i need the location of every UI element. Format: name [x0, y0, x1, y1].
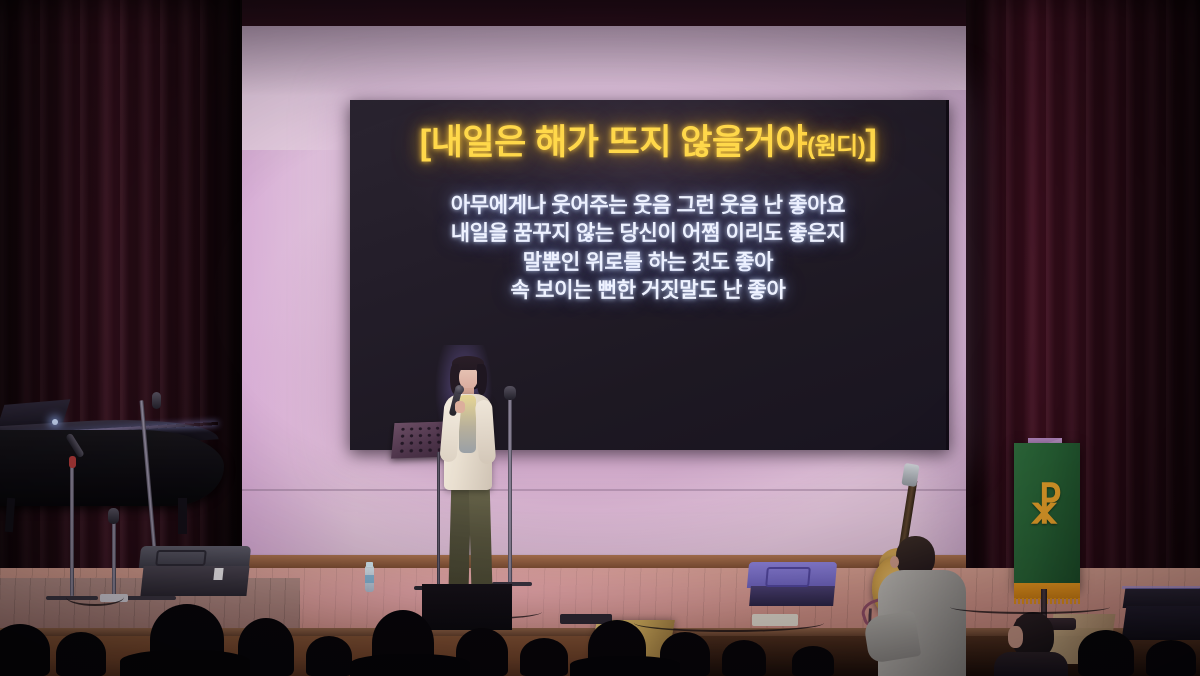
banner-fringe [1014, 583, 1080, 599]
audience-head [306, 636, 352, 676]
mic-stand-2-base [122, 596, 176, 600]
chi-rho-icon: ☧ [1026, 487, 1066, 535]
audience-head [56, 632, 106, 676]
slide-title-main: [내일은 해가 뜨지 않을거야 [420, 123, 808, 162]
mic-stand-3-head [108, 508, 119, 524]
audience-head [1078, 630, 1134, 676]
audience-head [722, 640, 766, 676]
mic-stand-2-head [152, 392, 161, 409]
stage-photo: [내일은 해가 뜨지 않을거야(원디)] 아무에게나 웃어주는 웃음 그런 웃음… [0, 0, 1200, 676]
singer-leg-right [469, 482, 493, 589]
wall-baseboard [236, 555, 981, 568]
mic-stand-3-pole [112, 520, 116, 596]
grand-piano [0, 430, 224, 506]
person-foreground-face [1008, 626, 1023, 648]
singer-hand [455, 401, 465, 413]
music-stand-pole [437, 452, 440, 588]
audio-cable-4 [950, 600, 1110, 614]
audio-cable-1 [66, 588, 124, 606]
curtain-right [966, 0, 1200, 648]
audience-shoulders [350, 654, 470, 676]
lyric-line-1: 아무에게나 웃어주는 웃음 그런 웃음 난 좋아요 [350, 192, 946, 220]
person-gray-sweater-ear [890, 556, 899, 568]
lyric-line-4: 속 보이는 뻔한 거짓말도 난 좋아 [350, 277, 946, 305]
projection-screen: [내일은 해가 뜨지 않을거야(원디)] 아무에게나 웃어주는 웃음 그런 웃음… [350, 100, 949, 450]
mic-stand-4-pole [508, 394, 512, 584]
wall-light-glow-left [236, 150, 356, 580]
audience-shoulders [570, 656, 680, 676]
curtain-left [0, 0, 242, 640]
audience-head [792, 646, 834, 676]
audience-head [1146, 640, 1196, 676]
stage-monitor-right [1124, 588, 1200, 640]
lyric-line-2: 내일을 꿈꾸지 않는 당신이 어쩜 이리도 좋은지 [350, 220, 946, 248]
singer-leg-left [449, 482, 472, 587]
person-gray-sweater-arm [863, 610, 922, 664]
slide-title: [내일은 해가 뜨지 않을거야(원디)] [350, 114, 946, 165]
piano-light-sparkle [52, 419, 58, 425]
wall-seam [236, 489, 976, 491]
audience-head [520, 638, 568, 676]
power-strip [752, 614, 798, 626]
singer-hair-right [477, 364, 487, 395]
piano-leg-right [178, 498, 187, 534]
slide-title-artist: (원디) [807, 133, 865, 160]
mic-stand-4-clip [504, 386, 516, 400]
slide-title-close: ] [865, 123, 876, 162]
audience-shoulders [120, 650, 250, 676]
lyric-line-3: 말뿐인 위로를 하는 것도 좋아 [350, 249, 946, 277]
stage-monitor-center [748, 562, 836, 608]
water-bottle-label [365, 575, 374, 583]
mic-stand-1-clip [69, 456, 76, 468]
floor-monitor-front [422, 584, 512, 630]
slide-lyrics: 아무에게나 웃어주는 웃음 그런 웃음 난 좋아요 내일을 꿈꾸지 않는 당신이… [350, 192, 946, 305]
mic-stand-1-pole [70, 458, 74, 596]
person-foreground-body [994, 652, 1068, 676]
stage-monitor-left [140, 546, 250, 594]
